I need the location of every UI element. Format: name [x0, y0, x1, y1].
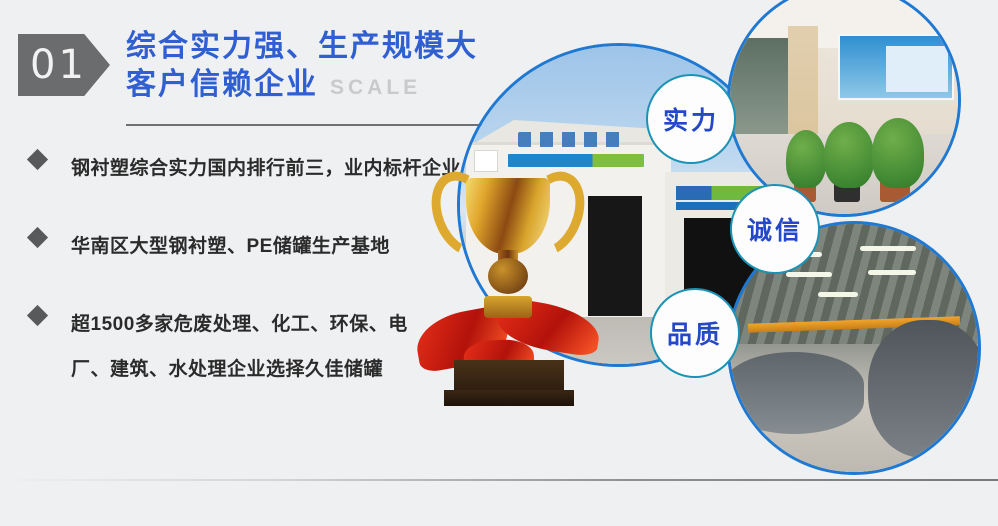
gold-trophy — [420, 154, 596, 424]
info-board — [838, 34, 954, 100]
badge-label: 实力 — [663, 101, 719, 137]
trophy-base — [454, 360, 564, 394]
page-title-line2: 客户信赖企业 — [126, 66, 318, 104]
company-name-sign — [518, 132, 628, 147]
list-item-line: 厂、建筑、水处理企业选择久佳储罐 — [71, 347, 408, 392]
promo-banner: 01 综合实力强、生产规模大 客户信赖企业 SCALE 钢衬塑综合实力国内排行前… — [0, 0, 998, 503]
diamond-icon — [27, 305, 48, 326]
trophy-knob — [488, 258, 528, 294]
badge-integrity: 诚信 — [730, 184, 820, 274]
badge-label: 诚信 — [747, 211, 803, 247]
ceiling-lamp — [860, 246, 916, 251]
trophy-foot — [484, 296, 532, 318]
list-item-text: 超1500多家危废处理、化工、环保、电 厂、建筑、水处理企业选择久佳储罐 — [71, 302, 408, 392]
section-number-label: 01 — [18, 45, 87, 85]
trophy-base-plinth — [444, 390, 574, 406]
info-board-pane — [886, 46, 948, 92]
section-number-badge: 01 — [18, 34, 110, 96]
ceiling-lamp — [868, 270, 916, 275]
list-item-line: 超1500多家危废处理、化工、环保、电 — [71, 302, 408, 347]
storage-tank — [868, 320, 978, 458]
badge-quality: 品质 — [650, 288, 740, 378]
bottom-divider — [0, 479, 998, 481]
diamond-icon — [27, 227, 48, 248]
storage-tank — [730, 352, 864, 434]
list-item-line: 华南区大型钢衬塑、PE储罐生产基地 — [71, 224, 390, 269]
potted-plant — [786, 130, 826, 188]
list-item-text: 华南区大型钢衬塑、PE储罐生产基地 — [71, 224, 390, 269]
photo-office-corridor — [730, 0, 958, 214]
potted-plant — [824, 122, 874, 188]
badge-strength: 实力 — [646, 74, 736, 164]
door-left — [588, 196, 642, 316]
photo-collage: 实力 诚信 品质 — [400, 0, 998, 526]
potted-plant — [872, 118, 924, 188]
ceiling-lamp — [818, 292, 858, 297]
ceiling-lamp — [786, 272, 832, 277]
badge-label: 品质 — [667, 315, 723, 351]
diamond-icon — [27, 149, 48, 170]
